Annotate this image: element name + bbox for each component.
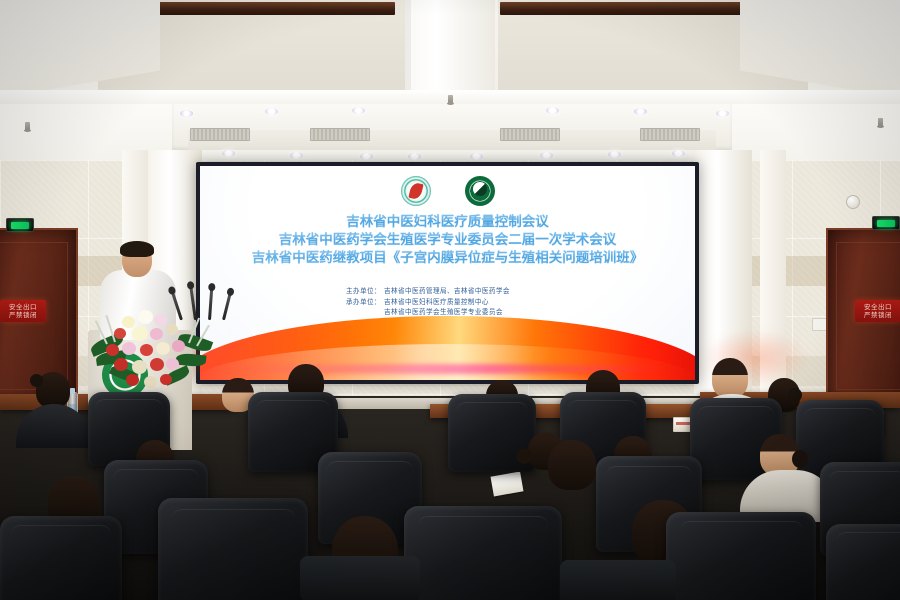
exit-green-lamp-icon (877, 220, 895, 227)
air-vent (310, 128, 370, 141)
flower (122, 342, 136, 355)
chair[interactable] (158, 498, 308, 600)
exit-sign-line2: 严禁锁闭 (864, 311, 892, 319)
exit-sign-line1: 安全出口 (9, 303, 37, 311)
audience-head-foreground (548, 440, 596, 490)
flower (126, 374, 139, 386)
sprinkler-head (25, 122, 30, 131)
chair[interactable] (826, 524, 900, 600)
ceiling-downlight (540, 152, 553, 159)
air-vent (500, 128, 560, 141)
flower (106, 344, 119, 356)
flower (138, 310, 153, 324)
flower (172, 340, 185, 352)
ceiling-downlight (672, 150, 685, 157)
flower (132, 360, 147, 374)
audience-hair-bun (788, 388, 802, 402)
screen-sheen (200, 166, 695, 380)
ceiling-downlight (222, 150, 235, 157)
ceiling-downlight (290, 152, 303, 159)
ceiling-downlight (352, 107, 365, 114)
flower (132, 326, 148, 341)
illuminated-exit-sign-left (6, 218, 34, 232)
sprinkler-head (878, 118, 883, 127)
audience-hair-bun (30, 374, 43, 387)
flower (144, 376, 157, 388)
audience-hair-bun (516, 448, 532, 464)
flower (140, 344, 153, 356)
flower (156, 342, 170, 355)
chair-armrest (300, 556, 420, 600)
emergency-exit-sign-left: 安全出口 严禁锁闭 (0, 300, 46, 322)
exit-sign-line1: 安全出口 (864, 303, 892, 311)
ceiling-downlight (470, 153, 483, 160)
flower (166, 324, 178, 335)
exit-green-lamp-icon (11, 222, 29, 229)
microphone-icon (222, 292, 232, 320)
ceiling-downlight (265, 108, 278, 115)
flower (150, 328, 163, 340)
emergency-exit-sign-right: 安全出口 严禁锁闭 (855, 300, 900, 322)
ceiling-downlight (634, 108, 647, 115)
flower (166, 358, 179, 370)
ceiling (0, 0, 900, 170)
chair[interactable] (666, 512, 816, 600)
ceiling-tray-inner (188, 130, 716, 150)
flower (154, 314, 167, 326)
ceiling-downlight (716, 110, 729, 117)
ceiling-downlight (546, 107, 559, 114)
flower (114, 328, 126, 339)
audience-head (712, 358, 748, 398)
smoke-detector-icon (846, 195, 860, 209)
air-vent (640, 128, 700, 141)
foliage (175, 352, 206, 367)
flower (114, 358, 128, 371)
ceiling-downlight (180, 110, 193, 117)
led-screen-bezel: 吉林省中医妇科医疗质量控制会议 吉林省中医药学会生殖医学专业委员会二届一次学术会… (196, 162, 699, 384)
ceiling-downlight (608, 151, 621, 158)
illuminated-exit-sign-right (872, 216, 900, 230)
led-screen[interactable]: 吉林省中医妇科医疗质量控制会议 吉林省中医药学会生殖医学专业委员会二届一次学术会… (200, 166, 695, 380)
flower-arrangement (92, 300, 212, 390)
chair[interactable] (0, 516, 122, 600)
sprinkler-head (448, 95, 453, 104)
flower (160, 374, 172, 385)
audience-hair-bun (792, 450, 808, 468)
exit-sign-line2: 严禁锁闭 (9, 311, 37, 319)
ceiling-downlight (360, 153, 373, 160)
speaker-hair (120, 241, 154, 257)
flower (122, 316, 135, 328)
ceiling-downlight (408, 153, 421, 160)
conference-hall-photo: 安全出口 严禁锁闭 安全出口 严禁锁闭 吉林省中医妇科医疗质量控制会议 吉林省中… (0, 0, 900, 600)
chair[interactable] (404, 506, 562, 600)
flower (150, 358, 164, 371)
air-vent (190, 128, 250, 141)
chair-armrest (560, 560, 676, 600)
